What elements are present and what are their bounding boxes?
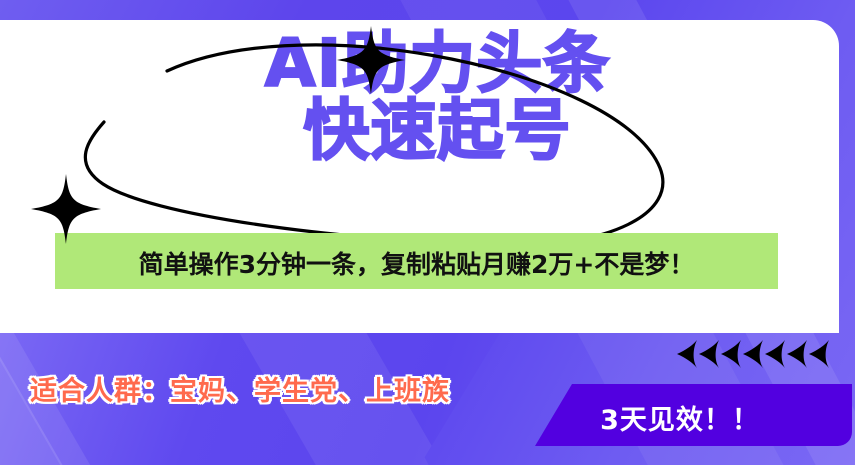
arrow-left-icon <box>742 340 766 368</box>
audience-block <box>0 333 600 465</box>
arrow-left-icon <box>720 340 744 368</box>
promo-poster: AI助力头条 快速起号 简单操作3分钟一条，复制粘贴月赚2万+不是梦！ 适合人群… <box>0 0 855 465</box>
arrow-left-icon <box>808 340 832 368</box>
arrow-left-icon <box>698 340 722 368</box>
cta-banner <box>520 384 852 446</box>
arrow-left-icon <box>764 340 788 368</box>
arrow-row <box>676 339 830 369</box>
subtitle-highlight-band <box>55 233 778 289</box>
arrow-left-icon <box>786 340 810 368</box>
arrow-left-icon <box>676 340 700 368</box>
